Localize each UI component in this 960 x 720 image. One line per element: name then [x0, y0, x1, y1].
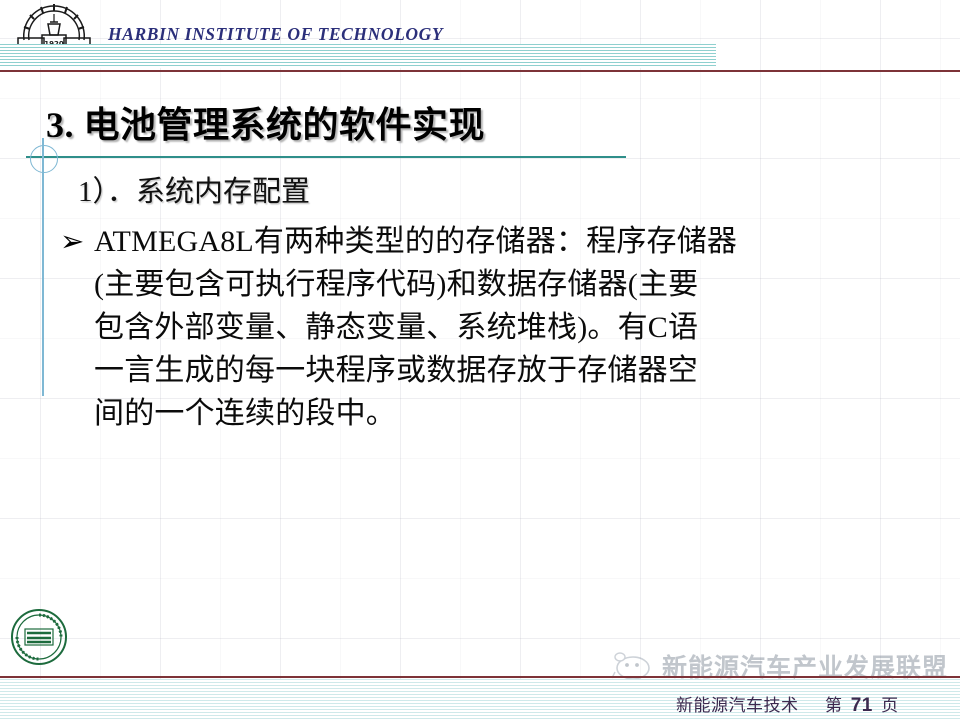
- header-stripe-band: [0, 44, 716, 68]
- vertical-accent-line: [42, 138, 44, 396]
- body-line: 一言生成的每一块程序或数据存放于存储器空: [94, 349, 940, 392]
- page-label-prefix: 第: [825, 696, 843, 715]
- bullet-arrow-icon: ➢: [60, 220, 94, 263]
- footer-caption: 新能源汽车技术 第 71 页: [676, 691, 899, 717]
- body-line: ATMEGA8L有两种类型的的存储器：程序存储器: [94, 220, 940, 263]
- slide-canvas: 1920 哈工大 HARBIN INSTITUTE OF TECHNOLOGY …: [0, 0, 960, 720]
- green-circular-seal-icon: [10, 608, 68, 666]
- bullet-text-block: ATMEGA8L有两种类型的的存储器：程序存储器 (主要包含可执行程序代码)和数…: [94, 220, 940, 435]
- page-label-suffix: 页: [881, 696, 899, 715]
- body-line: 间的一个连续的段中。: [94, 392, 940, 435]
- page-title: 3. 电池管理系统的软件实现: [46, 96, 485, 148]
- decorative-circle-icon: [30, 145, 58, 173]
- page-number: 71: [848, 695, 876, 716]
- footer-divider-rule: [0, 676, 960, 678]
- header-divider-rule: [0, 70, 960, 72]
- page-subtitle: 1）．系统内存配置: [78, 168, 310, 210]
- institution-name: HARBIN INSTITUTE OF TECHNOLOGY: [108, 24, 443, 45]
- body-line: 包含外部变量、静态变量、系统堆栈)。有C语: [94, 306, 940, 349]
- title-underline: [26, 156, 626, 158]
- slide-header: 1920 哈工大 HARBIN INSTITUTE OF TECHNOLOGY: [0, 0, 960, 72]
- bullet-item: ➢ ATMEGA8L有两种类型的的存储器：程序存储器 (主要包含可执行程序代码)…: [60, 220, 940, 435]
- body-content: ➢ ATMEGA8L有两种类型的的存储器：程序存储器 (主要包含可执行程序代码)…: [60, 220, 940, 435]
- body-line: (主要包含可执行程序代码)和数据存储器(主要: [94, 263, 940, 306]
- course-name: 新能源汽车技术: [676, 696, 799, 715]
